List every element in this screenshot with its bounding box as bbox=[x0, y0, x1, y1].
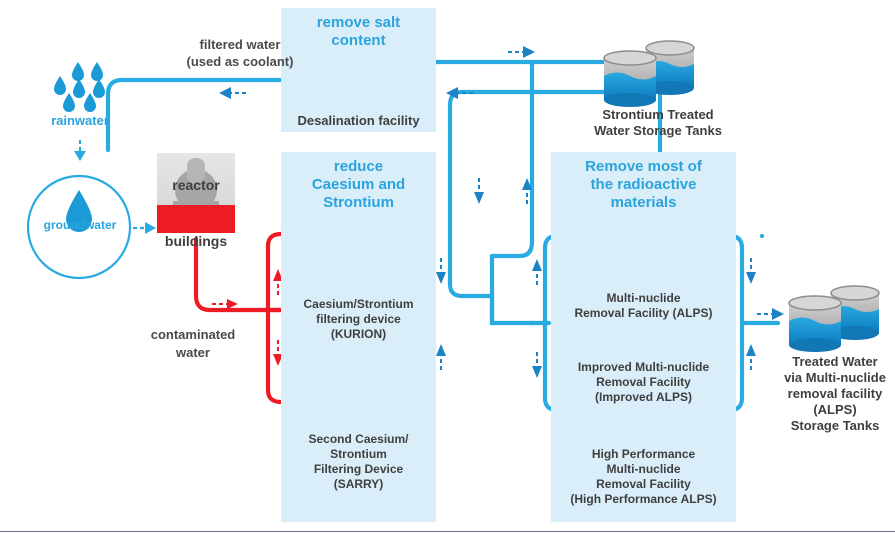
strontium-tanks-caption-1: Strontium Treated bbox=[573, 108, 743, 122]
panel-desalination-title-1: remove salt bbox=[281, 14, 436, 32]
contaminated-water-label-line2: water bbox=[118, 345, 268, 361]
kurion-caption-1: Caesium/Strontium bbox=[281, 297, 436, 311]
panel-cs-title-3: Strontium bbox=[281, 194, 436, 212]
kurion-caption-2: filtering device bbox=[281, 312, 436, 326]
arrow-desal-return-left bbox=[219, 87, 246, 99]
treated-tanks-caption-1: Treated Water bbox=[775, 355, 895, 369]
panel-alps-title-1: Remove most of bbox=[551, 158, 736, 176]
treated-tanks-caption-2: via Multi-nuclide bbox=[775, 371, 895, 385]
panel-alps-title-3: materials bbox=[551, 194, 736, 212]
desalination-caption: Desalination facility bbox=[281, 114, 436, 128]
panel-cs-title-2: Caesium and bbox=[281, 176, 436, 194]
improved-alps-caption-2: Removal Facility bbox=[551, 375, 736, 389]
treated-tanks-caption-5: Storage Tanks bbox=[775, 419, 895, 433]
reactor-caption: buildings bbox=[150, 234, 242, 248]
arrow-groundwater-to-reactor bbox=[133, 222, 156, 234]
arrow-contaminated-right bbox=[212, 299, 238, 309]
arrow-alps-right-up bbox=[746, 344, 756, 370]
strontium-tanks-caption-2: Water Storage Tanks bbox=[573, 124, 743, 138]
arrow-alps-right-down bbox=[746, 258, 756, 284]
storage-tanks-icon bbox=[604, 41, 694, 107]
reactor-label: reactor bbox=[157, 178, 235, 192]
alps-caption-2: Removal Facility (ALPS) bbox=[551, 306, 736, 320]
hp-alps-caption-1: High Performance bbox=[551, 447, 736, 461]
contaminated-water-label-line1: contaminated bbox=[118, 327, 268, 343]
arrow-alps-left-up bbox=[532, 259, 542, 285]
contaminated-water-pipe bbox=[196, 234, 284, 402]
panel-desalination-title-2: content bbox=[281, 32, 436, 50]
panel-cs-title-1: reduce bbox=[281, 158, 436, 176]
flow-pipes-layer bbox=[0, 0, 895, 534]
treated-tanks-caption-4: (ALPS) bbox=[775, 403, 895, 417]
improved-alps-caption-3: (Improved ALPS) bbox=[551, 390, 736, 404]
hp-alps-caption-2: Multi-nuclide bbox=[551, 462, 736, 476]
groundwater-label: groundwater bbox=[24, 218, 136, 233]
arrow-alps-left-down bbox=[532, 352, 542, 378]
sarry-caption-1: Second Caesium/ bbox=[281, 432, 436, 446]
filtered-water-label-line2: (used as coolant) bbox=[140, 54, 340, 70]
arrow-to-treated-tanks bbox=[757, 308, 784, 320]
alps-caption-1: Multi-nuclide bbox=[551, 291, 736, 305]
sarry-caption-3: Filtering Device bbox=[281, 462, 436, 476]
sarry-caption-2: Strontium bbox=[281, 447, 436, 461]
arrow-rainwater-to-groundwater bbox=[74, 140, 86, 161]
bottom-divider bbox=[0, 531, 895, 532]
rainwater-label: rainwater bbox=[30, 113, 130, 128]
arrow-mid-down-2 bbox=[436, 258, 446, 284]
arrow-top-main-right bbox=[508, 46, 535, 58]
treated-tanks-caption-3: removal facility bbox=[775, 387, 895, 401]
panel-alps-title-2: the radioactive bbox=[551, 176, 736, 194]
hp-alps-caption-4: (High Performance ALPS) bbox=[551, 492, 736, 506]
raindrops-icon bbox=[54, 62, 105, 112]
reactor-building-icon bbox=[157, 153, 235, 233]
diagram-canvas: rainwater groundwater reactor buildings … bbox=[0, 0, 895, 534]
storage-tanks-icon bbox=[789, 286, 879, 352]
improved-alps-caption-1: Improved Multi-nuclide bbox=[551, 360, 736, 374]
kurion-caption-3: (KURION) bbox=[281, 327, 436, 341]
arrow-mid-down-1 bbox=[474, 178, 484, 204]
hp-alps-caption-3: Removal Facility bbox=[551, 477, 736, 491]
arrow-mid-up-2 bbox=[436, 344, 446, 370]
sarry-caption-4: (SARRY) bbox=[281, 477, 436, 491]
